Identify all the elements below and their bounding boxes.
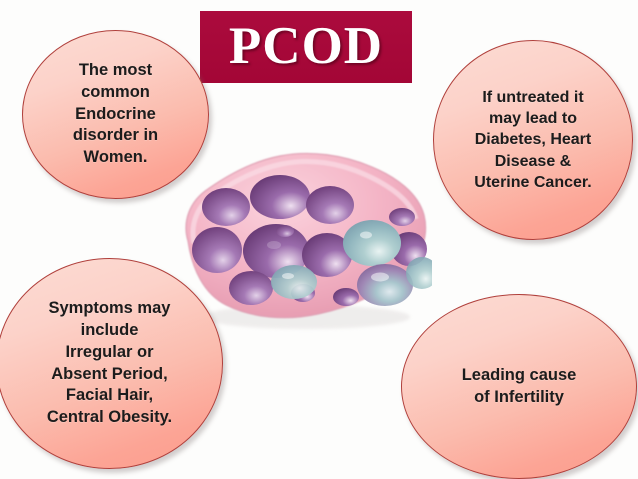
page-title: PCOD — [229, 20, 383, 75]
polycystic-ovary-illustration — [176, 145, 432, 335]
bubble-untreated-complications[interactable]: If untreated it may lead to Diabetes, He… — [433, 40, 633, 240]
bubble-text-top-left: The most common Endocrine disorder in Wo… — [63, 60, 168, 169]
bubble-text-top-right: If untreated it may lead to Diabetes, He… — [464, 87, 601, 193]
bubble-most-common-endocrine-disorder[interactable]: The most common Endocrine disorder in Wo… — [22, 30, 209, 199]
bubble-text-bottom-right: Leading cause of Infertility — [452, 365, 587, 409]
bubble-text-bottom-left: Symptoms may include Irregular or Absent… — [37, 298, 182, 429]
bubble-symptoms[interactable]: Symptoms may include Irregular or Absent… — [0, 258, 223, 469]
infographic-canvas: PCOD — [0, 0, 638, 479]
bubble-infertility[interactable]: Leading cause of Infertility — [401, 294, 637, 479]
title-banner: PCOD — [200, 11, 412, 83]
